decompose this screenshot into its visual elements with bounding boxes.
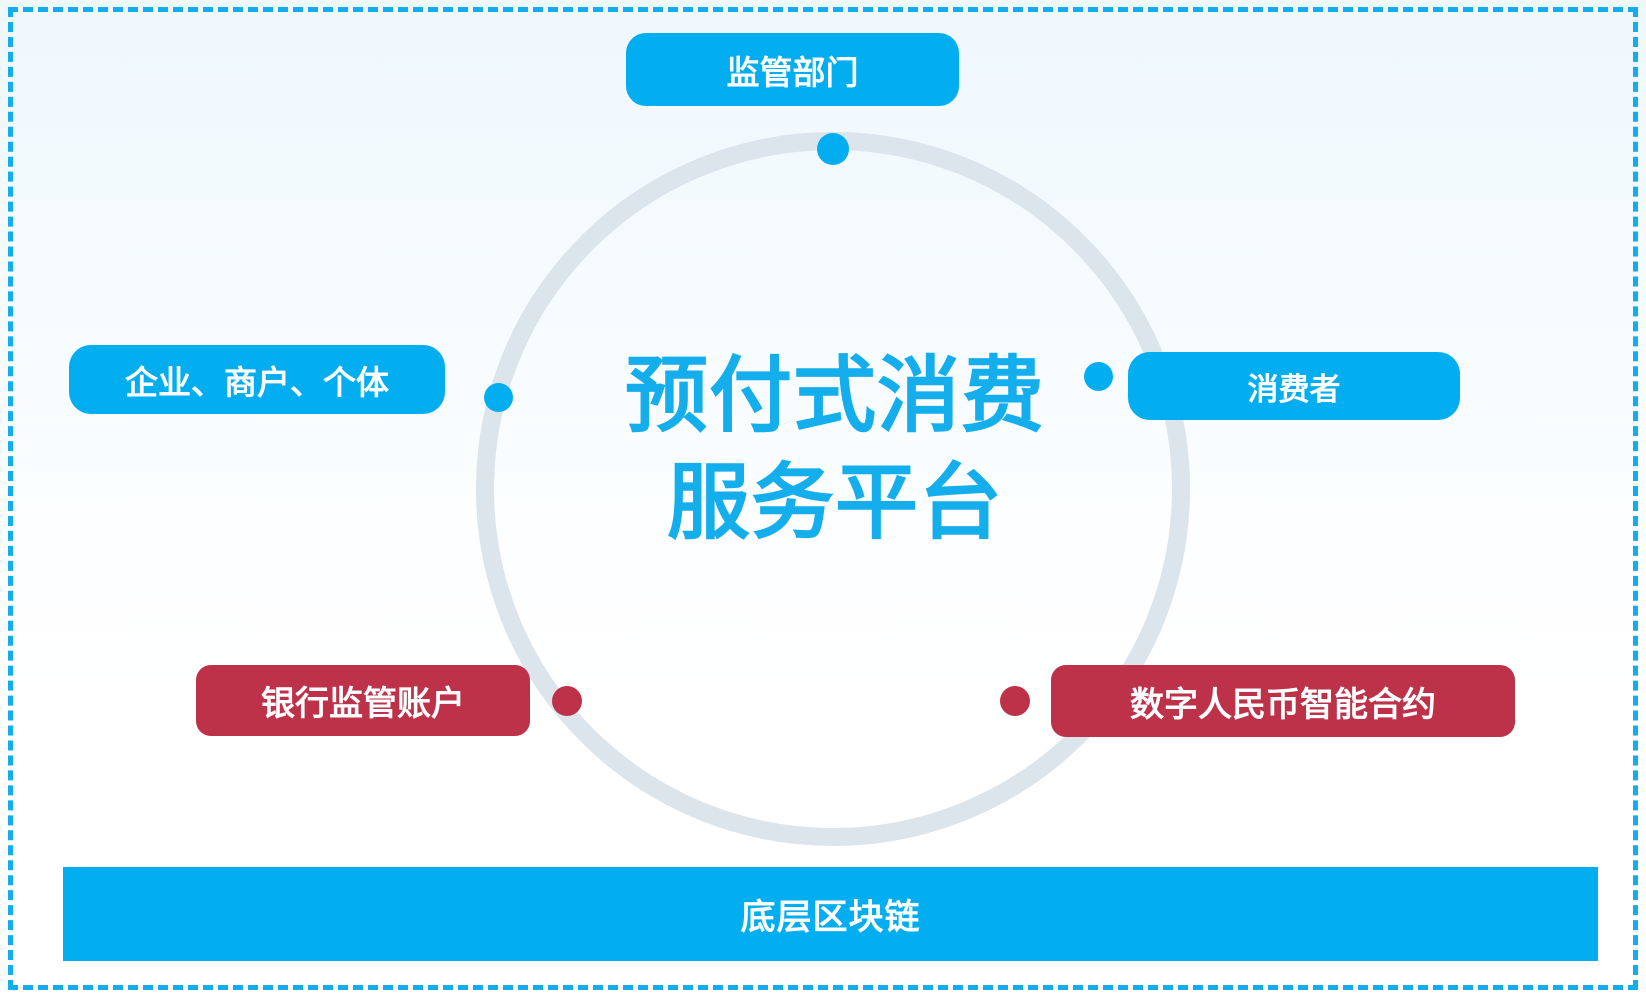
connector-dot-bottom-left-icon <box>552 686 582 716</box>
node-bank-account[interactable]: 银行监管账户 <box>196 665 530 736</box>
connector-dot-right-icon <box>1084 362 1113 391</box>
connector-dot-left-icon <box>484 383 513 412</box>
connector-dot-bottom-right-icon <box>1000 686 1030 716</box>
page-title: 预付式消费 服务平台 <box>515 342 1155 556</box>
connector-dot-top-icon <box>817 133 849 165</box>
node-consumer[interactable]: 消费者 <box>1128 352 1460 420</box>
node-smart-contract[interactable]: 数字人民币智能合约 <box>1051 665 1515 737</box>
node-regulator-label: 监管部门 <box>727 46 859 94</box>
diagram-canvas: 预付式消费 服务平台 监管部门 企业、商户、个体 消费者 银行监管账户 数字人民… <box>0 0 1646 1000</box>
node-enterprise-label: 企业、商户、个体 <box>125 356 389 404</box>
node-bank-account-label: 银行监管账户 <box>261 676 465 725</box>
node-regulator[interactable]: 监管部门 <box>626 33 959 106</box>
node-enterprise[interactable]: 企业、商户、个体 <box>69 345 445 414</box>
node-smart-contract-label: 数字人民币智能合约 <box>1130 677 1436 726</box>
foundation-bar[interactable]: 底层区块链 <box>63 867 1598 961</box>
foundation-bar-label: 底层区块链 <box>740 889 920 940</box>
node-consumer-label: 消费者 <box>1248 364 1341 409</box>
